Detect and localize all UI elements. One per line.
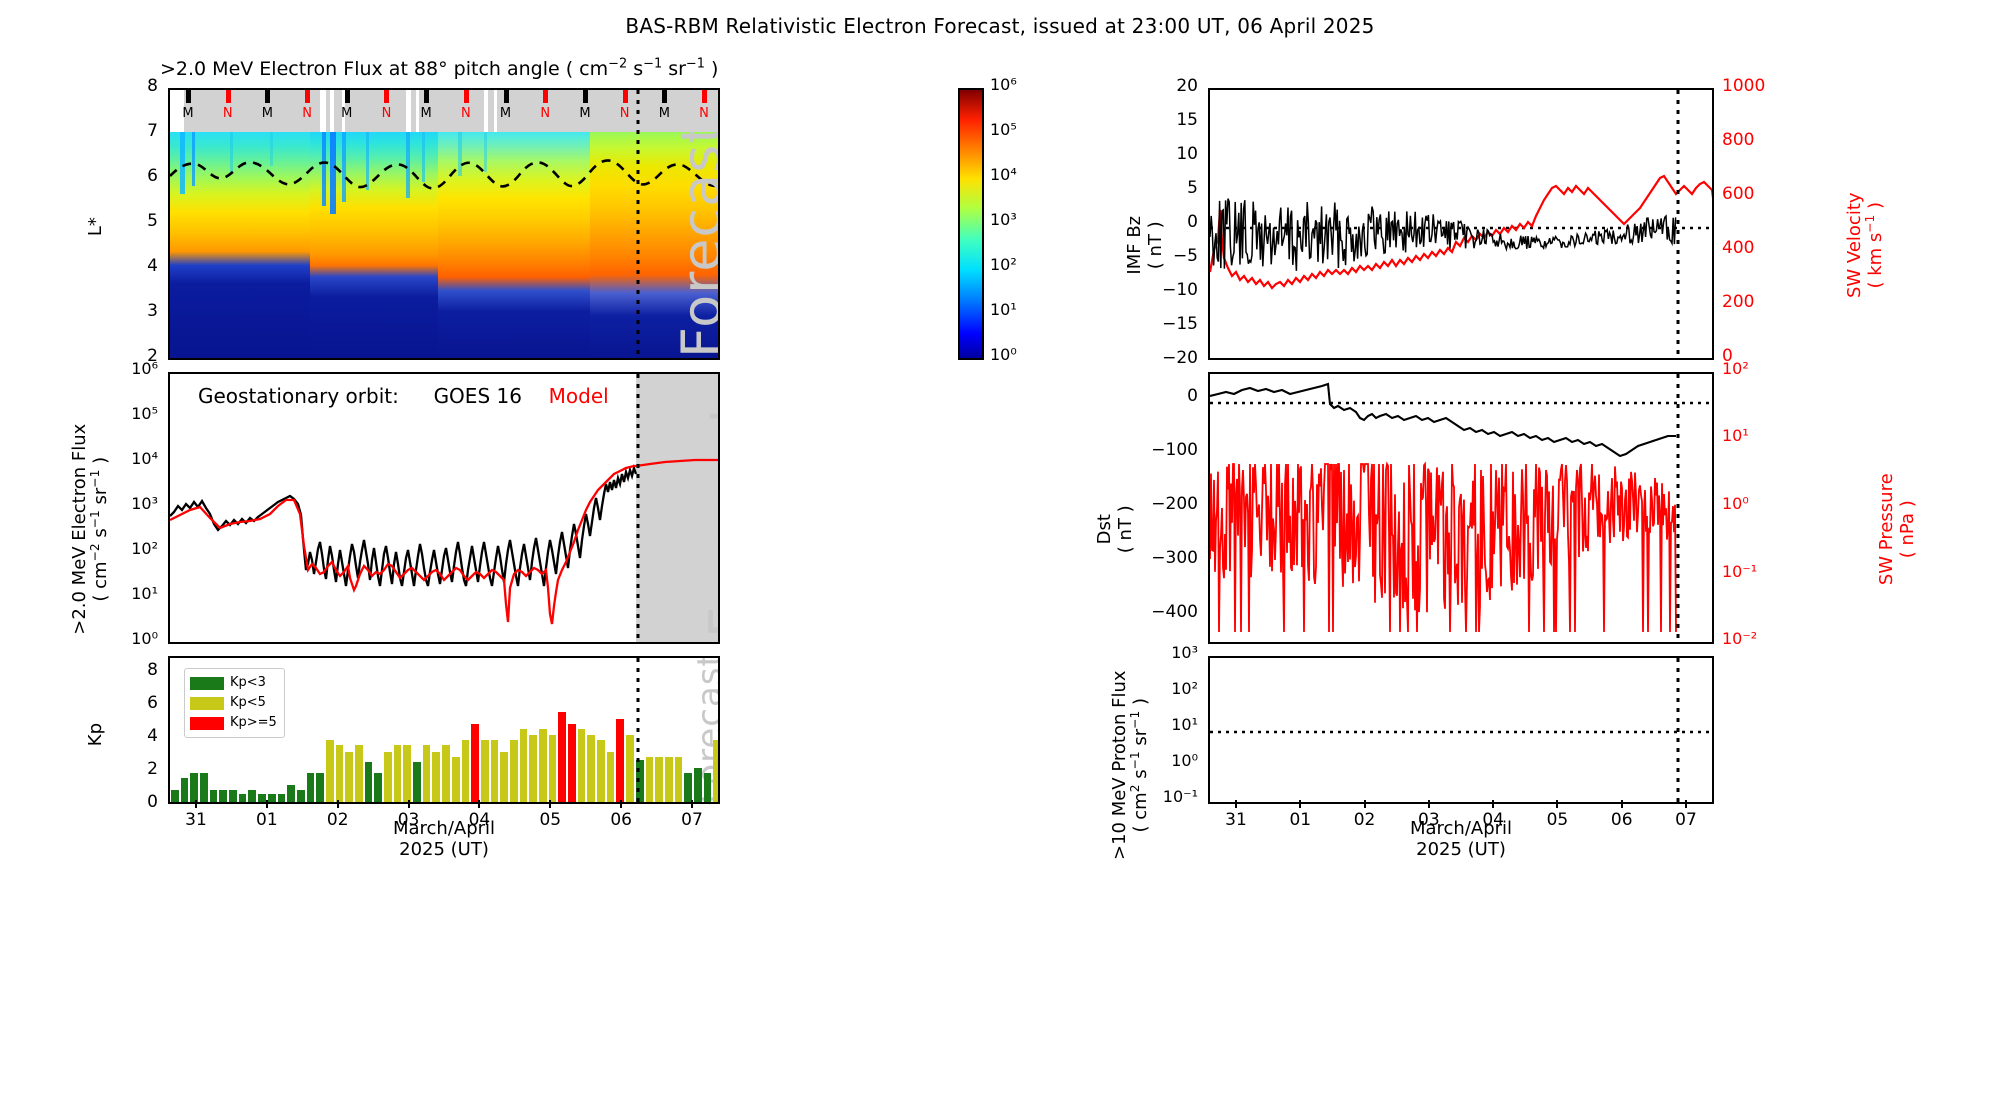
kp-bar[interactable] xyxy=(171,790,179,804)
kp-ytick-4: 4 xyxy=(147,726,158,746)
cbar-tick-6: 10⁶ xyxy=(990,75,1017,94)
swv-ytick-1000: 1000 xyxy=(1722,76,1765,96)
forecast-divider-kp xyxy=(636,658,640,804)
xtick-mark xyxy=(620,800,622,808)
kp-bar[interactable] xyxy=(278,794,286,804)
kp-legend-row-high: Kp>=5 xyxy=(190,713,277,733)
imf-ytick-5: 5 xyxy=(1187,178,1198,198)
mn-tick xyxy=(424,90,429,103)
kp-swatch-mid xyxy=(190,697,224,710)
panel-proton-flux[interactable] xyxy=(1208,656,1714,804)
kp-bar[interactable] xyxy=(239,794,247,804)
kp-bar[interactable] xyxy=(500,752,508,804)
dst-ytick-m200: −200 xyxy=(1151,494,1198,514)
mn-label: N xyxy=(216,106,240,121)
mn-label: M xyxy=(255,106,279,121)
mn-label: M xyxy=(335,106,359,121)
dst-ylabel-l2: ( nT ) xyxy=(1115,454,1136,604)
xtick-mark xyxy=(1621,800,1623,808)
kp-legend[interactable]: Kp<3 Kp<5 Kp>=5 xyxy=(184,668,285,738)
lstar-ytick-7: 7 xyxy=(147,121,158,141)
dst-ytick-m400: −400 xyxy=(1151,602,1198,622)
panel-lstar-title: >2.0 MeV Electron Flux at 88° pitch angl… xyxy=(160,58,718,80)
goes-unit-exp-1: −2 xyxy=(88,543,102,561)
kp-bar[interactable] xyxy=(413,762,421,804)
dst-ylabel-right: SW Pressure ( nPa ) xyxy=(1876,414,1918,644)
proton-ylabel-l2: ( cm2 s−1 sr−1 ) xyxy=(1130,610,1151,920)
kp-bar[interactable] xyxy=(336,745,344,804)
proton-xlabel-line1: March/April xyxy=(1208,818,1714,839)
swv-ylabel-l1: SW Velocity xyxy=(1844,140,1865,350)
kp-xlabel-line1: March/April xyxy=(168,818,720,839)
proton-ylabel-l1: >10 MeV Proton Flux xyxy=(1109,610,1130,920)
lstar-title-e: ) xyxy=(705,58,718,80)
kp-ytick-2: 2 xyxy=(147,759,158,779)
kp-bar[interactable] xyxy=(297,790,305,804)
mn-label: N xyxy=(613,106,637,121)
imf-ytick-15: 15 xyxy=(1176,110,1198,130)
lstar-title-d: sr xyxy=(662,58,686,80)
kp-bar[interactable] xyxy=(491,740,499,804)
kp-bar[interactable] xyxy=(655,757,663,804)
kp-bar[interactable] xyxy=(384,752,392,804)
xtick-mark xyxy=(1428,800,1430,808)
proton-ylabel: >10 MeV Proton Flux ( cm2 s−1 sr−1 ) xyxy=(1109,610,1151,920)
cbar-tick-5: 10⁵ xyxy=(990,120,1017,139)
lstar-title-e3: −1 xyxy=(686,57,705,72)
mn-label: M xyxy=(176,106,200,121)
kp-bar[interactable] xyxy=(587,735,595,804)
mn-tick xyxy=(504,90,509,103)
kp-bar[interactable] xyxy=(558,712,566,804)
kp-swatch-high xyxy=(190,717,224,730)
goes-ylabel-line1: >2.0 MeV Electron Flux xyxy=(69,379,90,679)
kp-bar[interactable] xyxy=(326,740,334,804)
kp-bar[interactable] xyxy=(442,745,450,804)
kp-bar[interactable] xyxy=(365,762,373,804)
lstar-title-a: >2.0 MeV Electron Flux at 88 xyxy=(160,58,438,80)
kp-bar[interactable] xyxy=(471,724,479,804)
kp-bar[interactable] xyxy=(423,745,431,804)
mn-tick xyxy=(384,90,389,103)
kp-bar[interactable] xyxy=(200,773,208,804)
lstar-ytick-6: 6 xyxy=(147,166,158,186)
kp-bar[interactable] xyxy=(704,773,712,804)
kp-bar[interactable] xyxy=(452,757,460,804)
imf-ytick-m5: −5 xyxy=(1173,246,1198,266)
xtick-mark xyxy=(337,800,339,808)
swv-unit-exp: −1 xyxy=(1863,215,1877,233)
swv-ytick-200: 200 xyxy=(1722,292,1754,312)
swv-ytick-400: 400 xyxy=(1722,238,1754,258)
forecast-divider-lstar xyxy=(636,90,640,360)
goes-ytick-1: 10¹ xyxy=(131,584,158,603)
swv-ytick-600: 600 xyxy=(1722,184,1754,204)
kp-bar[interactable] xyxy=(549,735,557,804)
kp-bar[interactable] xyxy=(258,794,266,804)
panel-lstar[interactable]: Forecast MNMNMNMNMNMNMN xyxy=(168,88,720,360)
kp-bar[interactable] xyxy=(403,745,411,804)
proton-xlabel: March/April 2025 (UT) xyxy=(1208,818,1714,860)
goes-ytick-5: 10⁵ xyxy=(131,404,158,423)
mn-tick xyxy=(265,90,270,103)
goes-unit-exp-2: −1 xyxy=(88,510,102,528)
kp-legend-label-low: Kp<3 xyxy=(230,673,266,693)
kp-ytick-0: 0 xyxy=(147,792,158,812)
kp-bar[interactable] xyxy=(607,752,615,804)
imf-ylabel-l2: ( nT ) xyxy=(1145,155,1166,335)
lstar-ylabel: L* xyxy=(85,217,106,236)
kp-bar[interactable] xyxy=(219,790,227,804)
kp-bar[interactable] xyxy=(626,735,634,804)
kp-bar[interactable] xyxy=(462,740,470,804)
imf-ytick-m15: −15 xyxy=(1162,314,1198,334)
mn-tick xyxy=(623,90,628,103)
mn-tick xyxy=(543,90,548,103)
swp-ytick-m1: 10⁻¹ xyxy=(1722,562,1757,581)
swv-ytick-800: 800 xyxy=(1722,130,1754,150)
kp-legend-label-high: Kp>=5 xyxy=(230,713,277,733)
xtick-mark xyxy=(195,800,197,808)
proton-unit-open: ( cm xyxy=(1130,792,1151,832)
mn-tick xyxy=(186,90,191,103)
cbar-tick-0: 10⁰ xyxy=(990,345,1017,364)
mn-label: M xyxy=(414,106,438,121)
kp-bar[interactable] xyxy=(229,790,237,804)
xtick-mark xyxy=(266,800,268,808)
kp-ylabel: Kp xyxy=(85,723,106,746)
dst-trace xyxy=(1210,374,1714,644)
proton-unit-exp-1: 2 xyxy=(1128,784,1142,792)
goes-ylabel-line2: ( cm−2 s−1 sr−1 ) xyxy=(90,379,111,679)
kp-bar[interactable] xyxy=(287,785,295,804)
proton-ytick-3: 10³ xyxy=(1171,643,1198,662)
imf-ylabel-l1: IMF Bz xyxy=(1124,155,1145,335)
mn-label: M xyxy=(494,106,518,121)
xtick-mark xyxy=(1364,800,1366,808)
kp-bar[interactable] xyxy=(529,735,537,804)
swv-unit-close: ) xyxy=(1865,202,1886,215)
kp-bar[interactable] xyxy=(510,740,518,804)
goes-ytick-4: 10⁴ xyxy=(131,449,158,468)
dst-ylabel-left: Dst ( nT ) xyxy=(1094,454,1136,604)
imf-ytick-m10: −10 xyxy=(1162,280,1198,300)
xtick-mark xyxy=(1299,800,1301,808)
kp-bar[interactable] xyxy=(665,757,673,804)
mn-tick xyxy=(305,90,310,103)
swp-ytick-0: 10⁰ xyxy=(1722,494,1749,513)
swp-ylabel-l2: ( nPa ) xyxy=(1897,414,1918,644)
xtick-mark xyxy=(1556,800,1558,808)
kp-bar[interactable] xyxy=(268,794,276,804)
kp-bar[interactable] xyxy=(248,790,256,804)
lstar-title-c: s xyxy=(627,58,643,80)
cbar-tick-1: 10¹ xyxy=(990,300,1017,319)
mn-label: N xyxy=(295,106,319,121)
kp-bar[interactable] xyxy=(597,740,605,804)
xtick-mark xyxy=(1492,800,1494,808)
proton-ytick-2: 10² xyxy=(1171,679,1198,698)
kp-bar[interactable] xyxy=(616,719,624,804)
kp-bar[interactable] xyxy=(520,729,528,804)
panel-dst[interactable] xyxy=(1208,372,1714,644)
xtick-mark xyxy=(478,800,480,808)
xtick-mark xyxy=(549,800,551,808)
goes-ylabel: >2.0 MeV Electron Flux ( cm−2 s−1 sr−1 ) xyxy=(69,379,111,679)
lstar-title-e1: −2 xyxy=(608,57,627,72)
goes-ylabel-unit-open: ( cm xyxy=(90,561,111,601)
kp-bar[interactable] xyxy=(646,757,654,804)
swv-ylabel-l2: ( km s−1 ) xyxy=(1865,140,1886,350)
kp-bar[interactable] xyxy=(694,768,702,804)
mn-tick xyxy=(662,90,667,103)
kp-ytick-6: 6 xyxy=(147,693,158,713)
swv-unit-open: ( km s xyxy=(1865,233,1886,289)
mn-tick xyxy=(464,90,469,103)
kp-bar[interactable] xyxy=(307,773,315,804)
kp-bar[interactable] xyxy=(539,729,547,804)
xtick-mark xyxy=(408,800,410,808)
kp-bar[interactable] xyxy=(578,729,586,804)
kp-legend-row-mid: Kp<5 xyxy=(190,693,277,713)
kp-swatch-low xyxy=(190,677,224,690)
kp-bar[interactable] xyxy=(316,773,324,804)
imf-ytick-20: 20 xyxy=(1176,76,1198,96)
goes-ytick-6: 10⁶ xyxy=(131,359,158,378)
forecast-divider-dst xyxy=(1676,374,1680,644)
swp-ytick-2: 10² xyxy=(1722,359,1749,378)
imf-ytick-10: 10 xyxy=(1176,144,1198,164)
imf-ylabel-right: SW Velocity ( km s−1 ) xyxy=(1844,140,1886,350)
kp-bar[interactable] xyxy=(355,745,363,804)
forecast-watermark-lstar: Forecast xyxy=(670,122,720,359)
xtick-mark xyxy=(1235,800,1237,808)
mn-tick xyxy=(345,90,350,103)
lstar-title-b: pitch angle ( cm xyxy=(448,58,609,80)
kp-bar[interactable] xyxy=(181,778,189,804)
lstar-title-e2: −1 xyxy=(643,57,662,72)
dst-ytick-m300: −300 xyxy=(1151,548,1198,568)
lstar-ytick-4: 4 xyxy=(147,256,158,276)
colorbar[interactable] xyxy=(958,88,984,360)
goes-ytick-2: 10² xyxy=(131,539,158,558)
cbar-tick-3: 10³ xyxy=(990,210,1017,229)
swp-ylabel-l1: SW Pressure xyxy=(1876,414,1897,644)
kp-xlabel-line2: 2025 (UT) xyxy=(168,839,720,860)
mn-label: N xyxy=(692,106,716,121)
proton-xlabel-line2: 2025 (UT) xyxy=(1208,839,1714,860)
imf-ytick-0: 0 xyxy=(1187,212,1198,232)
xtick-mark xyxy=(691,800,693,808)
swp-ytick-m2: 10⁻² xyxy=(1722,629,1757,648)
cbar-tick-4: 10⁴ xyxy=(990,165,1017,184)
forecast-divider-imf xyxy=(1676,90,1680,360)
dst-ytick-0: 0 xyxy=(1187,386,1198,406)
lstar-ytick-8: 8 xyxy=(147,76,158,96)
dst-ylabel-l1: Dst xyxy=(1094,454,1115,604)
proton-ytick-0: 10⁰ xyxy=(1171,751,1198,770)
forecast-divider-proton xyxy=(1676,658,1680,804)
kp-bar[interactable] xyxy=(210,790,218,804)
mn-tick xyxy=(226,90,231,103)
kp-bar[interactable] xyxy=(345,752,353,804)
mn-label: N xyxy=(533,106,557,121)
kp-bar[interactable] xyxy=(394,745,402,804)
cbar-tick-2: 10² xyxy=(990,255,1017,274)
proton-threshold-line xyxy=(1210,730,1714,734)
mn-label: M xyxy=(573,106,597,121)
kp-legend-row-low: Kp<3 xyxy=(190,673,277,693)
kp-bar[interactable] xyxy=(374,773,382,804)
proton-unit-exp-2: −1 xyxy=(1128,751,1142,769)
kp-ytick-8: 8 xyxy=(147,660,158,680)
mn-tick xyxy=(702,90,707,103)
kp-bar[interactable] xyxy=(568,724,576,804)
mn-tick xyxy=(583,90,588,103)
proton-ytick-m1: 10⁻¹ xyxy=(1163,787,1198,806)
proton-ytick-1: 10¹ xyxy=(1171,715,1198,734)
goes-ytick-0: 10⁰ xyxy=(131,629,158,648)
mn-label: N xyxy=(374,106,398,121)
kp-bar[interactable] xyxy=(481,740,489,804)
kp-legend-label-mid: Kp<5 xyxy=(230,693,266,713)
kp-xlabel: March/April 2025 (UT) xyxy=(168,818,720,860)
xtick-mark xyxy=(1685,800,1687,808)
mn-label: M xyxy=(652,106,676,121)
lstar-ytick-3: 3 xyxy=(147,301,158,321)
forecast-divider-goes xyxy=(636,374,640,644)
goes-unit-exp-3: −1 xyxy=(88,470,102,488)
imf-bz-trace xyxy=(1210,90,1714,360)
kp-bar[interactable] xyxy=(675,757,683,804)
kp-bar[interactable] xyxy=(432,752,440,804)
proton-unit-exp-3: −1 xyxy=(1128,711,1142,729)
imf-ytick-m20: −20 xyxy=(1162,348,1198,368)
goes-ytick-3: 10³ xyxy=(131,494,158,513)
panel-goes-flux[interactable]: Forecast Geostationary orbit: GOES 16 Mo… xyxy=(168,372,720,644)
lstar-ytick-5: 5 xyxy=(147,211,158,231)
kp-bar[interactable] xyxy=(713,740,720,804)
mn-label: N xyxy=(454,106,478,121)
imf-ylabel-left: IMF Bz ( nT ) xyxy=(1124,155,1166,335)
figure-title: BAS-RBM Relativistic Electron Forecast, … xyxy=(0,14,2000,38)
dst-ytick-m100: −100 xyxy=(1151,440,1198,460)
panel-imf-bz[interactable] xyxy=(1208,88,1714,360)
degree-icon: ° xyxy=(438,58,448,80)
swp-ytick-1: 10¹ xyxy=(1722,426,1749,445)
